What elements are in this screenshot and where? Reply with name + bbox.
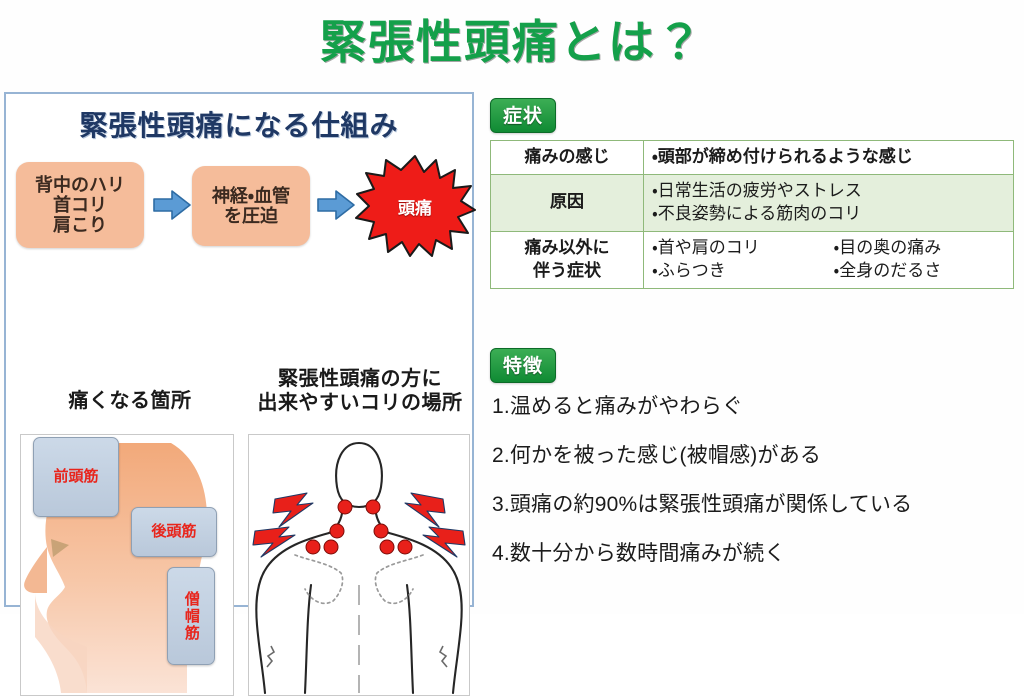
symptom-value-cause: ・日常生活の疲労やストレス ・不良姿勢による筋肉のコリ [644, 174, 1014, 231]
body-trigger-point-diagram [248, 434, 470, 696]
muscle-label-frontalis: 前頭筋 [33, 437, 119, 517]
symptom-value-other: ・首や肩のコリ ・ふらつき ・目の奥の痛み ・全身のだるさ [644, 231, 1014, 288]
symptom-value-other-a2: ・ふらつき [652, 260, 824, 283]
list-item: 3.頭痛の約90%は緊張性頭痛が関係している [492, 488, 1020, 518]
head-anatomy-diagram: 前頭筋 後頭筋 僧帽筋 [20, 434, 234, 696]
list-item: 2.何かを被った感じ(被帽感)がある [492, 439, 1020, 469]
symptom-label-cause: 原因 [491, 174, 644, 231]
symptom-label-other: 痛み以外に 伴う症状 [491, 231, 644, 288]
symptom-value-other-a1: ・首や肩のコリ [652, 237, 824, 260]
flow-box-compression: 神経・血管 を圧迫 [192, 166, 310, 246]
mechanism-panel: 緊張性頭痛になる仕組み 背中のハリ 首コリ 肩こり 神経・血管 を圧迫 [4, 92, 474, 607]
symptom-value-other-b1: ・目の奥の痛み [834, 237, 1006, 260]
symptom-value-other-col-b: ・目の奥の痛み ・全身のだるさ [834, 237, 1006, 283]
list-item: 4.数十分から数時間痛みが続く [492, 537, 1020, 567]
symptom-value-other-col-a: ・首や肩のコリ ・ふらつき [652, 237, 824, 283]
list-item: 1.温めると痛みがやわらぐ [492, 390, 1020, 420]
symptom-label-other-line2: 伴う症状 [499, 260, 635, 283]
table-row: 痛み以外に 伴う症状 ・首や肩のコリ ・ふらつき ・目の奥の痛み ・全身のだるさ [491, 231, 1014, 288]
flow-box-causes-line3: 肩こり [53, 215, 107, 235]
body-diagram-heading: 緊張性頭痛の方に 出来やすいコリの場所 [248, 368, 472, 415]
features-list: 1.温めると痛みがやわらぐ 2.何かを被った感じ(被帽感)がある 3.頭痛の約9… [492, 390, 1020, 586]
trigger-point-dot [306, 500, 412, 554]
upper-back-illustration [249, 435, 469, 695]
muscle-label-occipitalis: 後頭筋 [131, 507, 217, 557]
symptoms-badge: 症状 [490, 98, 556, 133]
symptom-label-other-line1: 痛み以外に [499, 237, 635, 260]
flow-box-causes-line1: 背中のハリ [35, 175, 125, 195]
table-row: 痛みの感じ ・頭部が締め付けられるような感じ [491, 141, 1014, 175]
symptom-label-feeling: 痛みの感じ [491, 141, 644, 175]
infographic-page: 緊張性頭痛とは？ 緊張性頭痛になる仕組み 背中のハリ 首コリ 肩こり 神経・血管… [0, 0, 1024, 614]
head-diagram-heading: 痛くなる箇所 [20, 390, 240, 414]
symptom-value-cause-line2: ・不良姿勢による筋肉のコリ [652, 203, 1005, 226]
muscle-label-trapezius: 僧帽筋 [167, 567, 215, 665]
flow-box-compression-line1: 神経・血管 [212, 186, 290, 206]
mechanism-flow-diagram: 背中のハリ 首コリ 肩こり 神経・血管 を圧迫 [14, 158, 466, 254]
headache-starburst: 頭痛 [354, 154, 476, 258]
headache-starburst-label: 頭痛 [354, 194, 476, 219]
page-title: 緊張性頭痛とは？ [0, 6, 1024, 72]
flow-box-compression-line2: を圧迫 [224, 206, 278, 226]
mechanism-title: 緊張性頭痛になる仕組み [6, 104, 472, 144]
symptom-value-cause-line1: ・日常生活の疲労やストレス [652, 180, 1005, 203]
right-arrow-icon [152, 188, 192, 222]
table-row: 原因 ・日常生活の疲労やストレス ・不良姿勢による筋肉のコリ [491, 174, 1014, 231]
body-diagram-heading-line2: 出来やすいコリの場所 [248, 392, 472, 416]
flow-box-causes-line2: 首コリ [53, 195, 107, 215]
symptom-value-other-b2: ・全身のだるさ [834, 260, 1006, 283]
symptoms-table: 痛みの感じ ・頭部が締め付けられるような感じ 原因 ・日常生活の疲労やストレス … [490, 140, 1014, 289]
right-arrow-icon [316, 188, 356, 222]
lightning-icon [253, 493, 465, 557]
features-badge: 特徴 [490, 348, 556, 383]
symptom-value-feeling: ・頭部が締め付けられるような感じ [644, 141, 1014, 175]
flow-box-causes: 背中のハリ 首コリ 肩こり [16, 162, 144, 248]
body-diagram-heading-line1: 緊張性頭痛の方に [248, 368, 472, 392]
